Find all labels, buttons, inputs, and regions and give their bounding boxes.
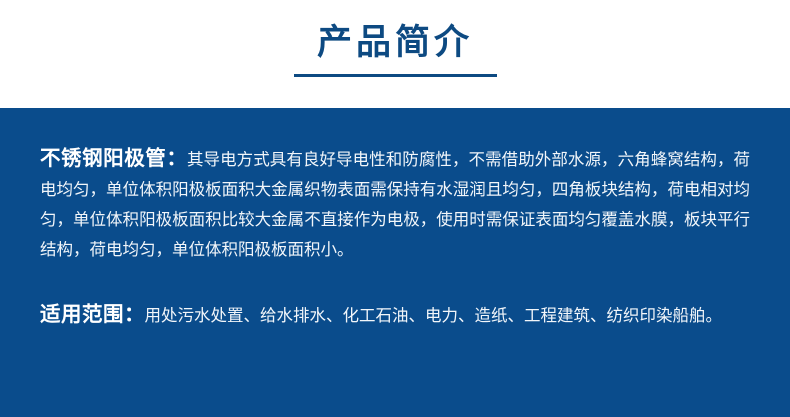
section-lead-label: 不锈钢阳极管 xyxy=(40,147,166,170)
section-paragraph: 不锈钢阳极管：其导电方式具有良好导电性和防腐性，不需借助外部水源，六角蜂窝结构，… xyxy=(40,144,750,265)
product-intro-page: 产品简介 不锈钢阳极管：其导电方式具有良好导电性和防腐性，不需借助外部水源，六角… xyxy=(0,0,790,417)
section-lead-colon: ： xyxy=(124,303,145,326)
section-application-scope: 适用范围：用处污水处置、给水排水、化工石油、电力、造纸、工程建筑、纺织印染船舶。 xyxy=(40,265,750,331)
section-paragraph: 适用范围：用处污水处置、给水排水、化工石油、电力、造纸、工程建筑、纺织印染船舶。 xyxy=(40,300,750,331)
page-title: 产品简介 xyxy=(317,21,473,65)
section-lead-label: 适用范围 xyxy=(40,303,124,326)
section-product-description: 不锈钢阳极管：其导电方式具有良好导电性和防腐性，不需借助外部水源，六角蜂窝结构，… xyxy=(40,108,750,265)
section-body-text: 用处污水处置、给水排水、化工石油、电力、造纸、工程建筑、纺织印染船舶。 xyxy=(145,307,723,325)
page-header: 产品简介 xyxy=(0,0,790,108)
content-panel: 不锈钢阳极管：其导电方式具有良好导电性和防腐性，不需借助外部水源，六角蜂窝结构，… xyxy=(0,108,790,417)
section-lead-colon: ： xyxy=(166,147,187,170)
title-underline-rule xyxy=(294,74,497,77)
